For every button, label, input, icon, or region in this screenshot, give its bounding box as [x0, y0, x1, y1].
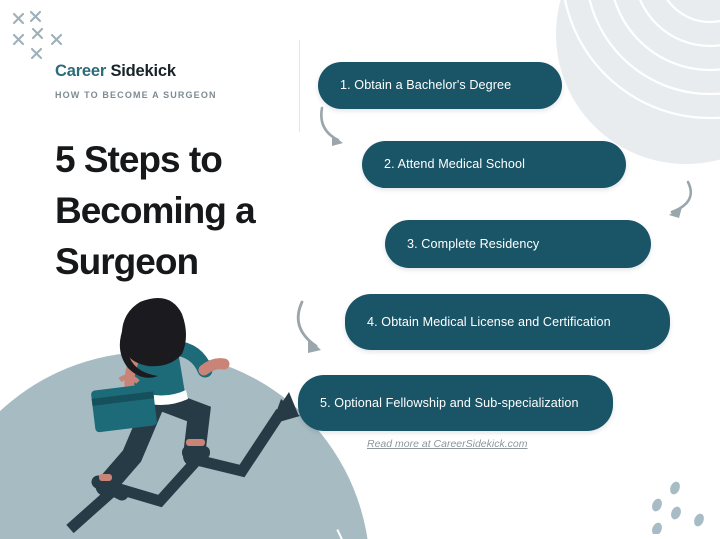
step-card-2[interactable]: 2. Attend Medical School [362, 141, 626, 188]
step-label-2: 2. Attend Medical School [384, 156, 525, 173]
step-card-3[interactable]: 3. Complete Residency [385, 220, 651, 268]
step-label-4: 4. Obtain Medical License and Certificat… [367, 314, 611, 331]
step-label-1: 1. Obtain a Bachelor's Degree [340, 77, 511, 94]
step-label-3: 3. Complete Residency [407, 236, 539, 253]
curved-arrow-2-to-3 [648, 180, 704, 226]
step-card-1[interactable]: 1. Obtain a Bachelor's Degree [318, 62, 562, 109]
curved-arrow-4-to-5 [286, 296, 348, 362]
step-card-5[interactable]: 5. Optional Fellowship and Sub-specializ… [298, 375, 613, 431]
steps-list: 1. Obtain a Bachelor's Degree 2. Attend … [0, 0, 720, 539]
step-card-4[interactable]: 4. Obtain Medical License and Certificat… [345, 294, 670, 350]
infographic-canvas: Career Sidekick HOW TO BECOME A SURGEON … [0, 0, 720, 539]
step-label-5: 5. Optional Fellowship and Sub-specializ… [320, 395, 579, 412]
curved-arrow-1-to-2 [312, 104, 372, 152]
read-more-link[interactable]: Read more at CareerSidekick.com [367, 438, 527, 450]
